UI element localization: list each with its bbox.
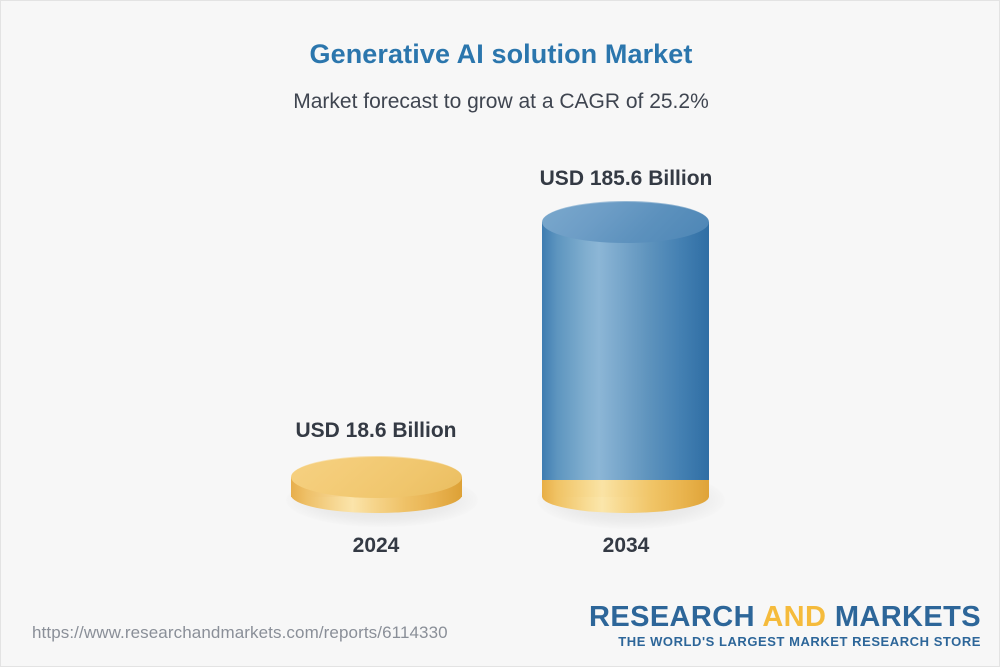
category-label-2034: 2034 — [496, 534, 756, 558]
logo-word-and: AND — [762, 601, 835, 633]
chart-canvas: Generative AI solution Market Market for… — [0, 0, 1000, 667]
bar-2034-base-band — [542, 480, 709, 497]
bar-2024[interactable] — [291, 456, 462, 513]
value-label-2034: USD 185.6 Billion — [496, 167, 756, 191]
logo-word-research: RESEARCH — [589, 601, 762, 633]
page-title: Generative AI solution Market — [1, 39, 1000, 70]
logo-word-markets: MARKETS — [835, 601, 981, 633]
category-label-2024: 2024 — [246, 534, 506, 558]
value-label-2024: USD 18.6 Billion — [246, 419, 506, 443]
bar-2034-body — [542, 222, 709, 480]
report-url[interactable]: https://www.researchandmarkets.com/repor… — [32, 623, 448, 643]
research-and-markets-logo[interactable]: RESEARCH AND MARKETS THE WORLD'S LARGEST… — [589, 602, 981, 649]
logo-tagline: THE WORLD'S LARGEST MARKET RESEARCH STOR… — [589, 634, 981, 649]
chart-subtitle: Market forecast to grow at a CAGR of 25.… — [1, 90, 1000, 114]
bar-2034-top-cap — [542, 201, 709, 243]
bar-2034[interactable] — [542, 201, 709, 513]
bar-2024-top-cap — [291, 456, 462, 498]
logo-wordmark: RESEARCH AND MARKETS — [589, 602, 981, 632]
